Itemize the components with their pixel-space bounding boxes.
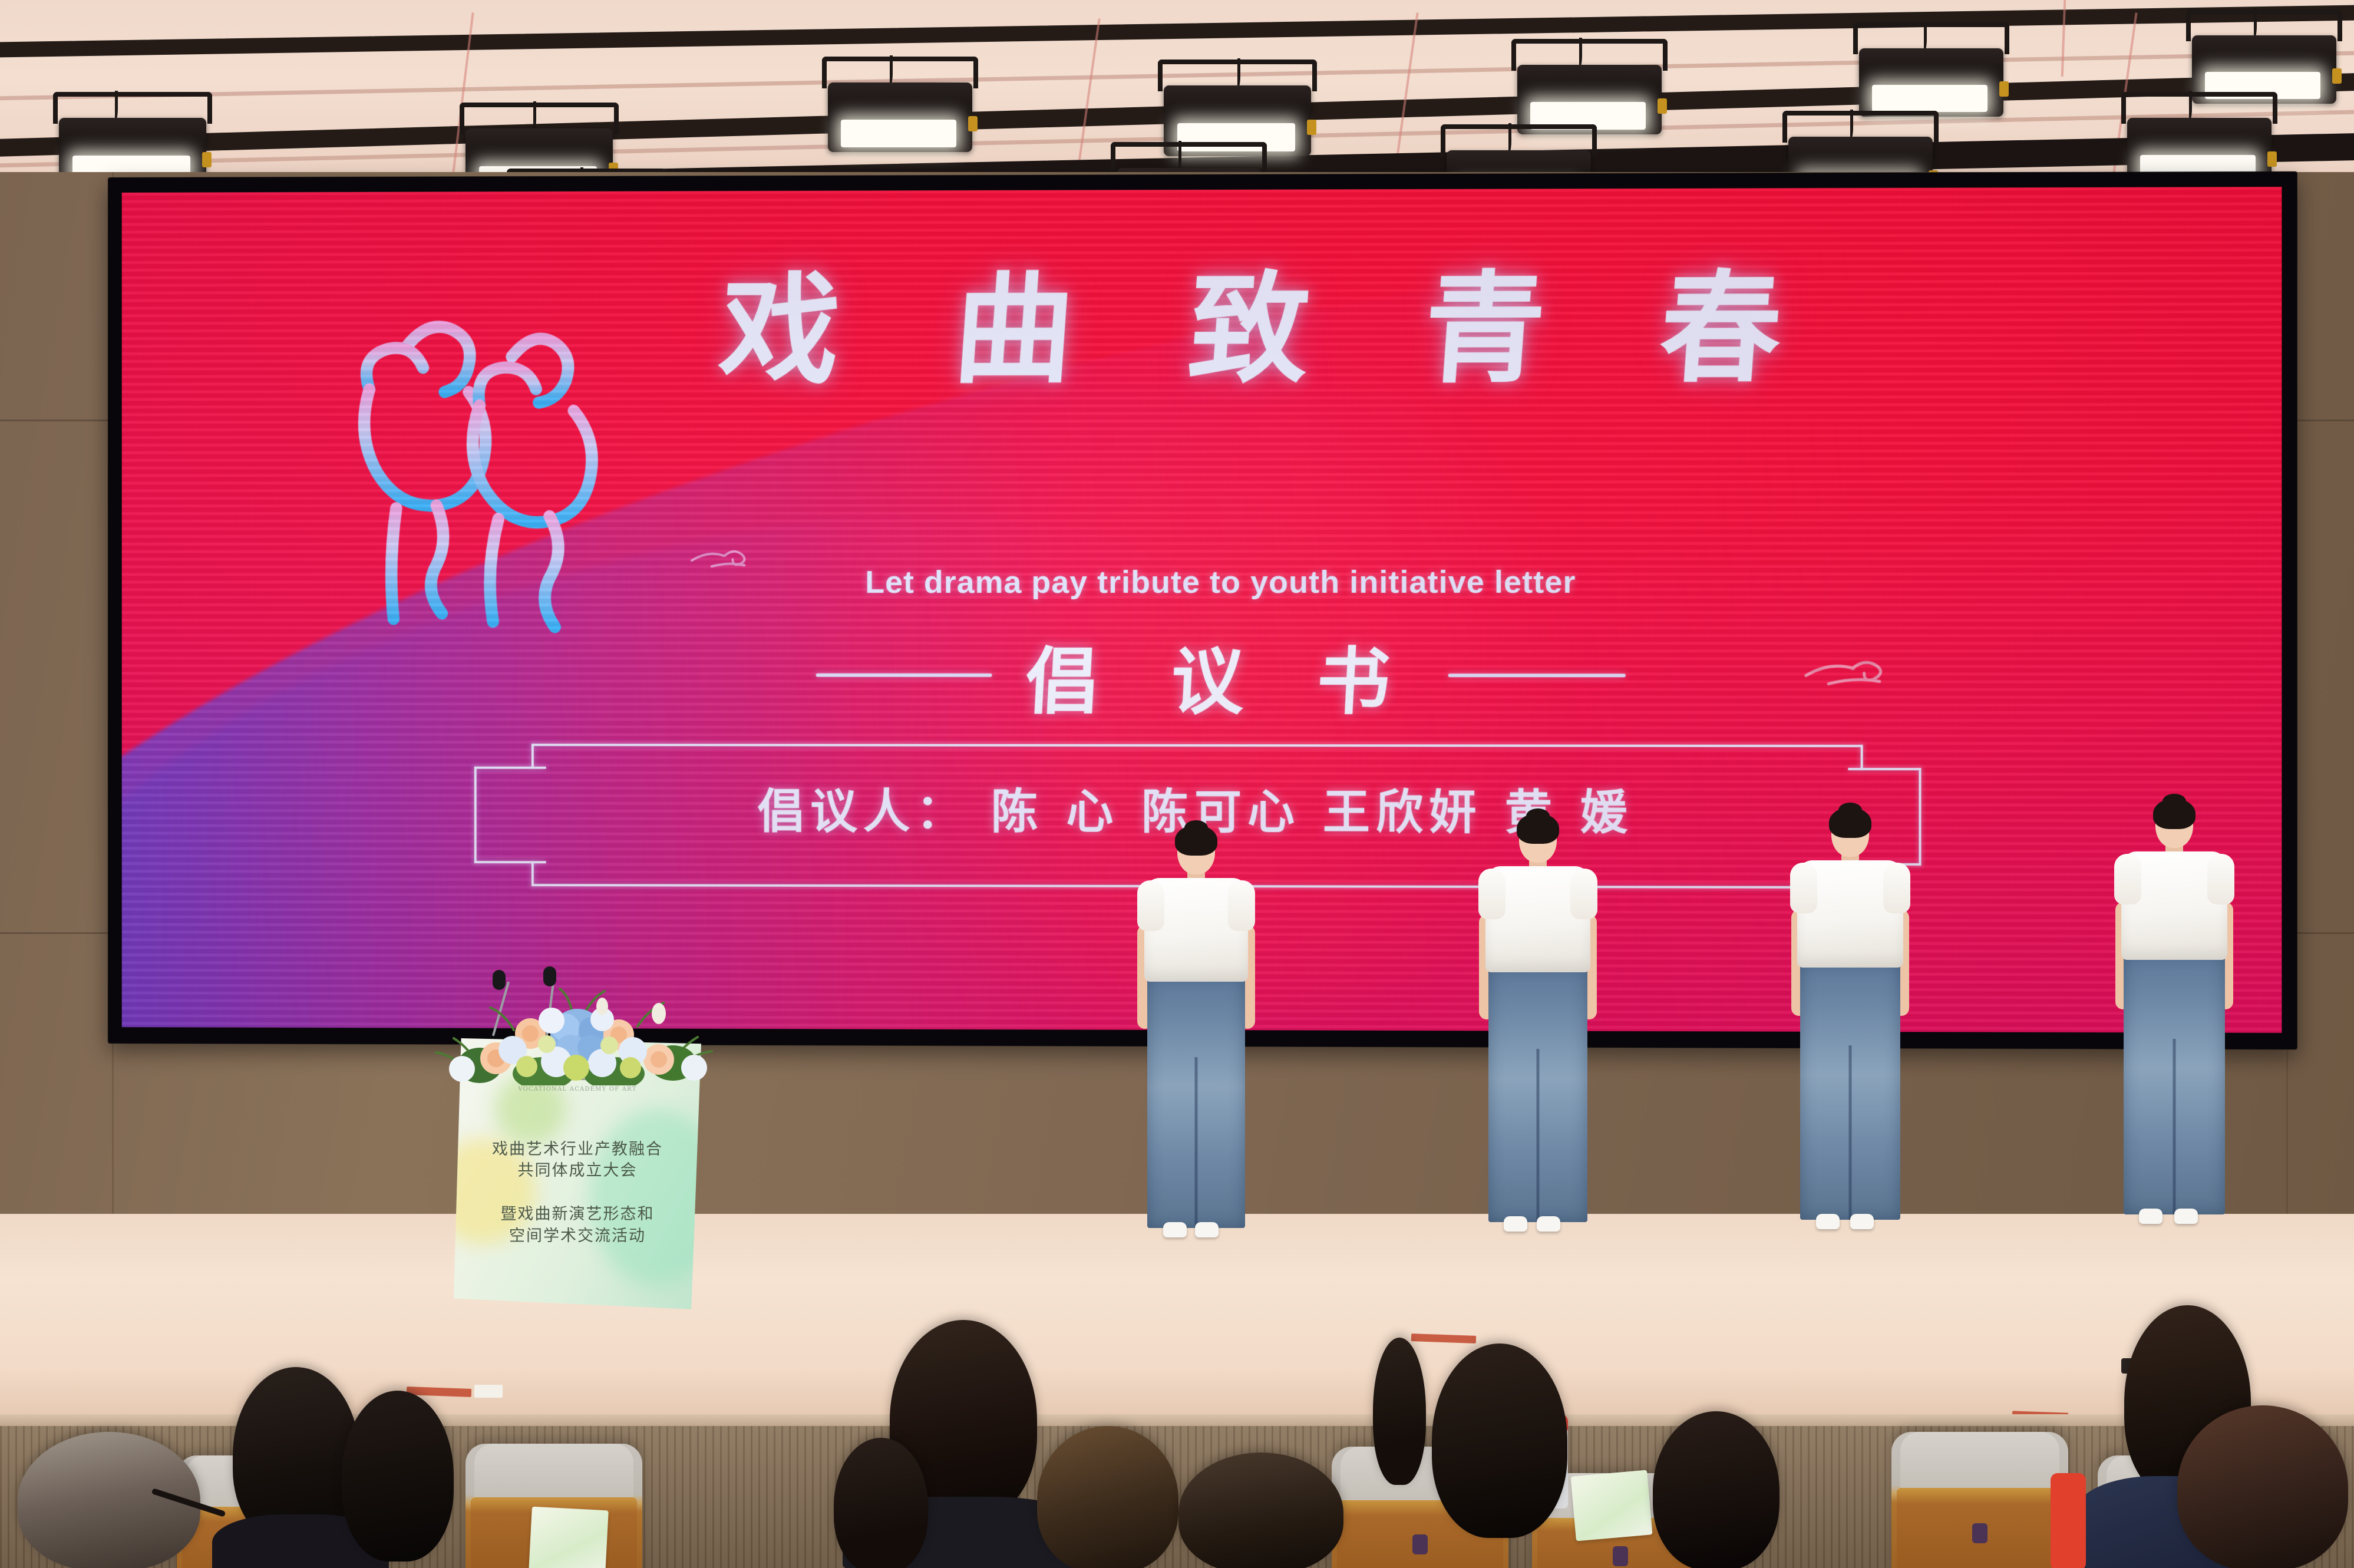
- screen-main-title: 戏 曲 致 青 春: [122, 229, 2282, 408]
- bracket-edge: [531, 744, 1863, 747]
- performer-shirt: [2121, 851, 2227, 960]
- podium-institution-en: VOCATIONAL ACADEMY OF ART: [468, 1086, 686, 1092]
- fixture-body: [828, 82, 972, 152]
- performer-shirt: [1144, 878, 1248, 982]
- fixture-knob: [2332, 68, 2342, 84]
- fixture-cable: [1176, 141, 1181, 170]
- performer-jeans: [1488, 965, 1587, 1222]
- performer-sleeve: [2207, 854, 2234, 905]
- fixture-lens: [841, 120, 956, 147]
- auditorium-stage-photo: 戏 曲 致 青 春 Let drama pay tribute to youth…: [0, 0, 2354, 1568]
- performer-shoe: [1504, 1216, 1527, 1232]
- fixture-cable: [2251, 8, 2257, 38]
- seat-headrest: [474, 1444, 633, 1500]
- performer-jeans: [1147, 975, 1245, 1228]
- performer-sleeve: [2114, 854, 2141, 905]
- seat-fastener: [1613, 1546, 1628, 1566]
- performer: [2098, 793, 2251, 1270]
- fixture-body: [1859, 48, 2003, 117]
- program-booklet[interactable]: [1570, 1470, 1652, 1541]
- program-booklet[interactable]: [529, 1507, 609, 1568]
- podium: 艺术职业学院 VOCATIONAL ACADEMY OF ART 戏曲艺术行业产…: [454, 979, 701, 1309]
- bracket-edge: [474, 767, 546, 769]
- podium-event-line-3: 暨戏曲新演艺形态和: [464, 1201, 691, 1224]
- performer-sleeve: [1478, 869, 1505, 919]
- audience-head: [1653, 1411, 1779, 1568]
- performer: [1120, 819, 1273, 1279]
- performer-sleeve: [1790, 863, 1817, 913]
- performer: [1774, 801, 1927, 1273]
- performer-hair: [1517, 813, 1559, 844]
- fixture-knob: [1999, 81, 2009, 97]
- floor-marking-tape: [474, 1385, 503, 1398]
- podium-event-line-1: 戏曲艺术行业产教融合: [464, 1136, 691, 1159]
- performer-shoe: [2139, 1209, 2162, 1224]
- stage-light-fixture: [828, 82, 972, 152]
- fixture-cable: [530, 101, 536, 131]
- jeans-seam: [1849, 1045, 1852, 1220]
- performer-shoe: [2174, 1209, 2198, 1224]
- audience-head: [834, 1438, 928, 1568]
- seat-fastener: [1412, 1534, 1428, 1554]
- bracket-edge: [1860, 745, 1863, 769]
- performer-shirt: [1797, 860, 1903, 968]
- performer-hair: [1829, 807, 1871, 838]
- audience-head: [1373, 1338, 1426, 1485]
- performer: [1461, 807, 1615, 1273]
- performer-sleeve: [1570, 869, 1597, 919]
- audience-head: [1037, 1426, 1178, 1568]
- performer-sleeve: [1883, 863, 1910, 913]
- audience-head: [342, 1391, 454, 1562]
- performer-hair: [1175, 825, 1217, 856]
- auditorium-seat[interactable]: [1891, 1432, 2068, 1568]
- flower-arrangement: [425, 979, 729, 1085]
- bracket-edge: [1848, 768, 1922, 770]
- screen-english-subtitle: Let drama pay tribute to youth initiativ…: [122, 563, 2282, 600]
- fixture-knob: [968, 116, 978, 131]
- decorative-rule-left: [816, 674, 992, 677]
- floor-marking-tape: [1411, 1333, 1476, 1343]
- stage-light-fixture: [1859, 48, 2003, 117]
- jeans-seam: [1195, 1057, 1198, 1228]
- bracket-edge: [531, 862, 534, 886]
- performer-shoe: [1816, 1214, 1840, 1229]
- fixture-cable: [1505, 123, 1511, 153]
- fixture-knob: [2267, 151, 2277, 167]
- screen-doctype-row: 倡 议 书: [122, 622, 2282, 729]
- fixture-lens: [1872, 85, 1987, 112]
- fixture-cable: [112, 91, 118, 120]
- screen-document-type: 倡 议 书: [1023, 622, 1417, 728]
- fixture-cable: [1234, 58, 1240, 88]
- audience-jacket-stripe: [2051, 1473, 2086, 1568]
- performer-jeans: [1800, 960, 1900, 1220]
- fixture-cable: [1847, 110, 1853, 139]
- performer-shoe: [1850, 1214, 1874, 1229]
- seat-fastener: [1972, 1523, 1987, 1543]
- decorative-rule-right: [1448, 674, 1626, 678]
- performer-shoe: [1195, 1222, 1219, 1237]
- performer-shoe: [1537, 1216, 1560, 1232]
- podium-event-line-4: 空间学术交流活动: [464, 1223, 691, 1246]
- bracket-edge: [531, 744, 534, 768]
- bracket-edge: [474, 861, 546, 863]
- audience-head: [1178, 1453, 1343, 1568]
- fixture-knob: [1307, 120, 1316, 135]
- podium-event-line-2: 共同体成立大会: [464, 1157, 691, 1180]
- seat-headrest: [1900, 1432, 2059, 1491]
- performer-sleeve: [1137, 880, 1164, 931]
- performer-sleeve: [1228, 880, 1255, 931]
- fixture-cable: [2186, 91, 2192, 120]
- fixture-cable: [887, 55, 893, 85]
- audience-head: [2177, 1405, 2348, 1568]
- jeans-seam: [2173, 1039, 2176, 1214]
- fixture-knob: [1658, 98, 1667, 114]
- fixture-cable: [1921, 21, 1927, 51]
- performer-shoe: [1163, 1222, 1187, 1237]
- fixture-knob: [202, 152, 212, 167]
- jeans-seam: [1537, 1049, 1540, 1222]
- performer-shirt: [1485, 866, 1590, 972]
- performer-hair: [2153, 798, 2195, 829]
- performer-jeans: [2124, 953, 2225, 1214]
- fixture-cable: [1576, 38, 1582, 67]
- audience-head: [1432, 1343, 1567, 1538]
